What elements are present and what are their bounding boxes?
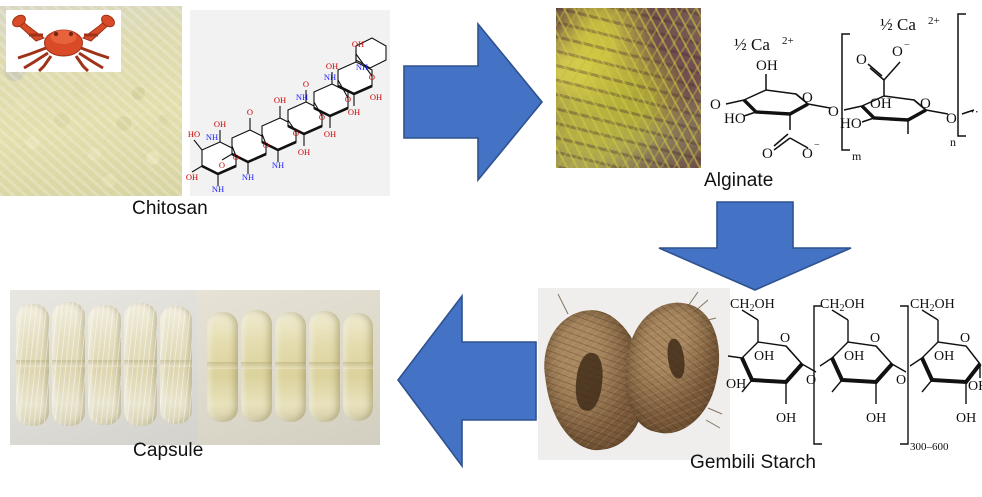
svg-text:O: O xyxy=(233,152,239,162)
capsule-label: Capsule xyxy=(133,440,203,462)
alginate-label: Alginate xyxy=(704,170,773,192)
alginate-subscript-n: n xyxy=(950,135,956,149)
capsule-item xyxy=(124,303,157,426)
svg-text:HO: HO xyxy=(724,111,746,127)
alginate-counterion-left: ½ Ca xyxy=(734,35,770,54)
arrow-right xyxy=(400,22,545,182)
seaweed-texture xyxy=(556,8,701,168)
svg-text:O: O xyxy=(896,373,906,388)
svg-text:O: O xyxy=(802,146,813,162)
capsule-item xyxy=(52,302,85,426)
starch-ch2oh-1: CH2OH xyxy=(730,297,775,314)
gembili-label: Gembili Starch xyxy=(690,452,816,474)
chitosan-structure: HOOH OOH OOH OH OHO OHOH OHOH OO OO OO N… xyxy=(190,10,390,196)
svg-text:O: O xyxy=(319,112,325,122)
svg-text:OH: OH xyxy=(324,129,336,139)
svg-text:OH: OH xyxy=(934,349,954,364)
crab-inset-photo xyxy=(6,10,121,72)
svg-text:NH: NH xyxy=(212,184,224,194)
svg-text:O: O xyxy=(219,160,225,170)
svg-text:O: O xyxy=(802,90,813,106)
svg-text:O: O xyxy=(293,128,299,138)
svg-text:OH: OH xyxy=(776,411,796,426)
svg-text:O: O xyxy=(828,104,839,120)
svg-text:···: ··· xyxy=(966,104,979,119)
starch-structure: CH2OH CH2OH CH2OH O O O OH OH OH OH OH O… xyxy=(728,292,982,462)
svg-text:HO: HO xyxy=(840,116,862,132)
svg-text:NH: NH xyxy=(272,160,284,170)
alginate-structure: ½ Ca 2+ ½ Ca 2+ OH O HO O O O − O OH O O… xyxy=(704,8,982,173)
svg-text:OH: OH xyxy=(726,377,746,392)
svg-text:HO: HO xyxy=(188,129,200,139)
svg-text:OH: OH xyxy=(870,96,892,112)
svg-text:O: O xyxy=(247,107,253,117)
svg-text:OH: OH xyxy=(214,119,226,129)
capsule-photo-left xyxy=(10,290,197,445)
svg-text:2+: 2+ xyxy=(782,35,794,47)
capsule-item xyxy=(343,313,373,421)
svg-text:NH: NH xyxy=(356,62,368,72)
svg-text:O: O xyxy=(780,331,790,346)
svg-text:OH: OH xyxy=(274,95,286,105)
svg-text:NH: NH xyxy=(242,172,254,182)
svg-text:O: O xyxy=(856,52,867,68)
capsule-item xyxy=(241,310,272,422)
svg-text:OH: OH xyxy=(866,411,886,426)
alginate-subscript-m: m xyxy=(852,149,862,163)
starch-subscript-range: 300–600 xyxy=(910,441,949,453)
capsule-photo-right xyxy=(197,290,380,445)
svg-text:O: O xyxy=(892,44,903,60)
alginate-counterion-right: ½ Ca xyxy=(880,15,916,34)
svg-text:O: O xyxy=(369,72,375,82)
svg-text:−: − xyxy=(904,40,910,51)
svg-text:OH: OH xyxy=(756,58,778,74)
svg-text:O: O xyxy=(806,373,816,388)
svg-text:O: O xyxy=(960,331,970,346)
seaweed-photo xyxy=(556,8,701,168)
capsule-item xyxy=(160,306,192,424)
capsule-item xyxy=(309,311,340,422)
svg-text:OH: OH xyxy=(956,411,976,426)
svg-text:O: O xyxy=(345,94,351,104)
svg-text:O: O xyxy=(762,146,773,162)
diagram-canvas: HOOH OOH OOH OH OHO OHOH OHOH OO OO OO N… xyxy=(0,0,982,497)
svg-text:NH: NH xyxy=(206,132,218,142)
svg-text:NH: NH xyxy=(296,92,308,102)
tuber-roots xyxy=(538,288,730,460)
capsule-item xyxy=(275,312,306,422)
svg-text:OH: OH xyxy=(348,107,360,117)
starch-ch2oh-2: CH2OH xyxy=(820,297,865,314)
svg-text:OH: OH xyxy=(844,349,864,364)
svg-text:O: O xyxy=(710,97,721,113)
capsule-item xyxy=(88,305,121,425)
svg-text:OH: OH xyxy=(754,349,774,364)
svg-text:OH: OH xyxy=(968,379,982,394)
capsule-item xyxy=(207,312,238,422)
svg-text:OH: OH xyxy=(352,39,364,49)
svg-text:−: − xyxy=(814,140,820,151)
svg-text:O: O xyxy=(870,331,880,346)
arrow-left xyxy=(394,292,540,470)
gembili-tuber-photo xyxy=(538,288,730,460)
svg-text:O: O xyxy=(303,79,309,89)
capsule-item xyxy=(16,304,49,426)
svg-text:OH: OH xyxy=(326,61,338,71)
crab-icon xyxy=(6,10,121,72)
arrow-down xyxy=(655,200,855,292)
svg-text:2+: 2+ xyxy=(928,15,940,27)
svg-text:O: O xyxy=(946,111,957,127)
svg-text:NH: NH xyxy=(324,72,336,82)
svg-text:O: O xyxy=(920,96,931,112)
svg-text:O: O xyxy=(263,140,269,150)
svg-text:OH: OH xyxy=(298,147,310,157)
svg-text:OH: OH xyxy=(370,92,382,102)
svg-text:OH: OH xyxy=(186,172,198,182)
chitosan-label: Chitosan xyxy=(132,198,208,220)
starch-ch2oh-3: CH2OH xyxy=(910,297,955,314)
